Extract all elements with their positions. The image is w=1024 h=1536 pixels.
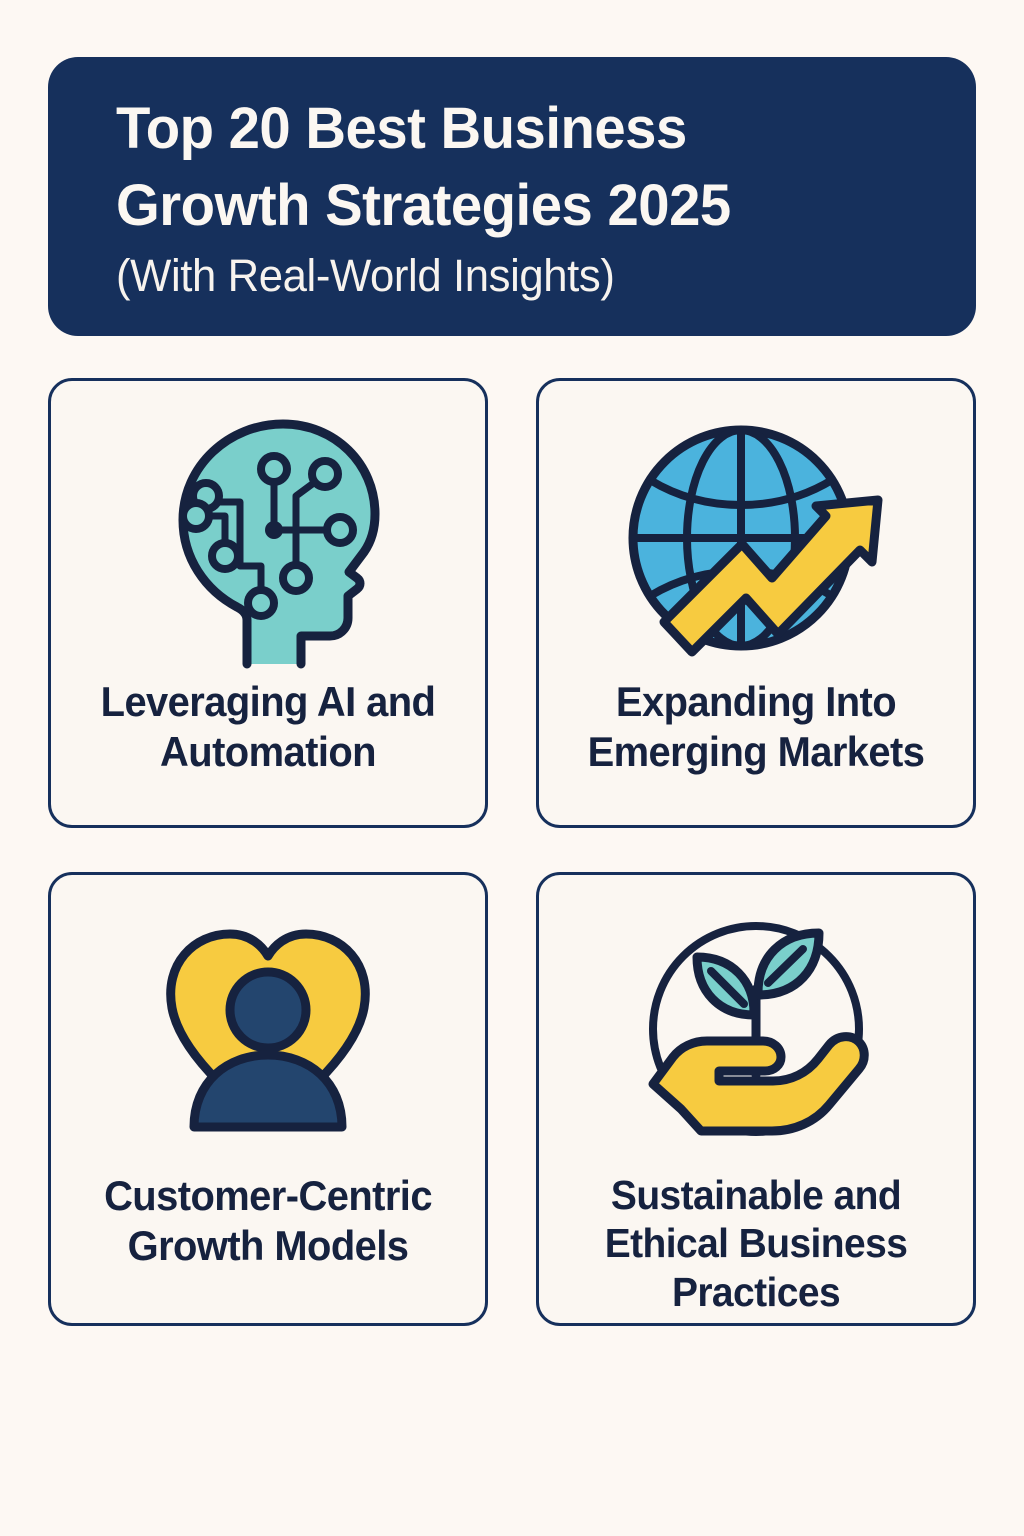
globe-growth-arrow-icon <box>616 403 896 673</box>
hand-plant-circle-icon <box>631 897 881 1167</box>
card-label: Leveraging AI and Automation <box>77 673 459 776</box>
page-title: Top 20 Best Business Growth Strategies 2… <box>116 91 908 244</box>
header-banner: Top 20 Best Business Growth Strategies 2… <box>48 57 976 336</box>
strategy-card-grid: Leveraging AI and Automation <box>48 378 976 1326</box>
card-label: Sustainable and Ethical Business Practic… <box>565 1167 947 1316</box>
card-customer-centric[interactable]: Customer-Centric Growth Models <box>48 872 488 1326</box>
card-sustainable-practices[interactable]: Sustainable and Ethical Business Practic… <box>536 872 976 1326</box>
infographic-page: Top 20 Best Business Growth Strategies 2… <box>0 0 1024 1536</box>
card-label: Customer-Centric Growth Models <box>77 1167 459 1270</box>
card-expanding-markets[interactable]: Expanding Into Emerging Markets <box>536 378 976 828</box>
card-label: Expanding Into Emerging Markets <box>565 673 947 776</box>
card-leveraging-ai[interactable]: Leveraging AI and Automation <box>48 378 488 828</box>
heart-person-icon <box>148 897 388 1167</box>
page-subtitle: (With Real-World Insights) <box>116 250 908 302</box>
ai-head-circuit-icon <box>143 403 393 673</box>
